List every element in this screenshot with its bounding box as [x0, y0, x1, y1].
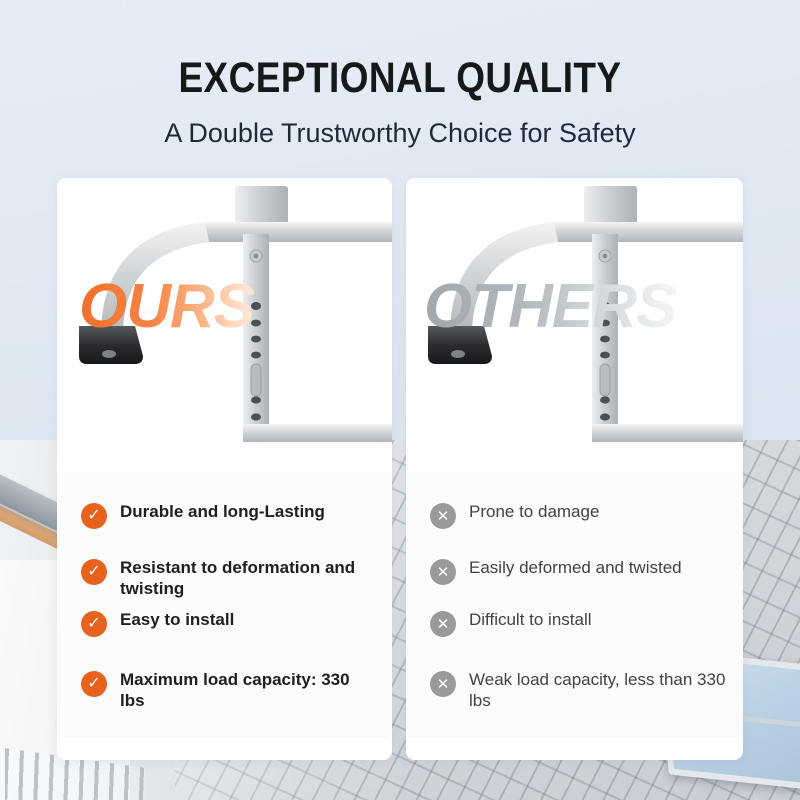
watermark-ours: OURS — [79, 271, 254, 342]
feature-row: ✕ Easily deformed and twisted — [430, 558, 729, 585]
check-icon: ✓ — [81, 671, 107, 697]
cross-icon: ✕ — [430, 671, 456, 697]
feature-row: ✓ Easy to install — [81, 610, 378, 637]
page-title: EXCEPTIONAL QUALITY — [56, 57, 744, 100]
comparison-card-others: OTHERS ✕ Prone to damage ✕ Easily deform… — [406, 178, 743, 760]
feature-label: Weak load capacity, less than 330 lbs — [469, 670, 729, 711]
watermark-others: OTHERS — [424, 271, 676, 342]
feature-label: Difficult to install — [469, 610, 592, 631]
feature-row: ✓ Durable and long-Lasting — [81, 502, 378, 529]
feature-row: ✓ Resistant to deformation and twisting — [81, 558, 378, 599]
feature-label: Maximum load capacity: 330 lbs — [120, 670, 378, 711]
infographic-stage: EXCEPTIONAL QUALITY A Double Trustworthy… — [0, 0, 800, 800]
feature-row: ✕ Weak load capacity, less than 330 lbs — [430, 670, 729, 711]
feature-row: ✕ Difficult to install — [430, 610, 729, 637]
feature-label: Durable and long-Lasting — [120, 502, 325, 523]
feature-label: Resistant to deformation and twisting — [120, 558, 378, 599]
feature-panel-others: ✕ Prone to damage ✕ Easily deformed and … — [406, 470, 743, 738]
cross-icon: ✕ — [430, 503, 456, 529]
check-icon: ✓ — [81, 559, 107, 585]
feature-panel-ours: ✓ Durable and long-Lasting ✓ Resistant t… — [57, 470, 392, 738]
feature-label: Easy to install — [120, 610, 234, 631]
page-subtitle: A Double Trustworthy Choice for Safety — [0, 119, 800, 149]
feature-row: ✕ Prone to damage — [430, 502, 729, 529]
feature-label: Easily deformed and twisted — [469, 558, 682, 579]
check-icon: ✓ — [81, 611, 107, 637]
comparison-card-ours: OURS ✓ Durable and long-Lasting ✓ Resist… — [57, 178, 392, 760]
check-icon: ✓ — [81, 503, 107, 529]
cross-icon: ✕ — [430, 559, 456, 585]
feature-row: ✓ Maximum load capacity: 330 lbs — [81, 670, 378, 711]
cross-icon: ✕ — [430, 611, 456, 637]
feature-label: Prone to damage — [469, 502, 599, 523]
